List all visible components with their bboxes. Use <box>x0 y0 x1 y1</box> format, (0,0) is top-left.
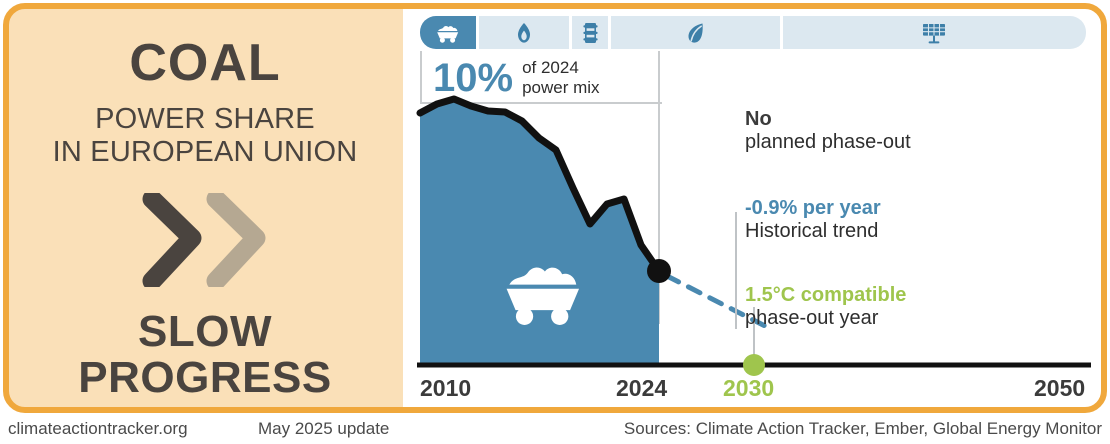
page-title: COAL <box>129 37 280 89</box>
annotation-compatible-phaseout: 1.5°C compatible phase-out year <box>745 284 906 330</box>
current-value-dot <box>647 259 671 283</box>
axis-tick-2024: 2024 <box>616 375 667 402</box>
chevron-right-light-icon <box>206 193 268 287</box>
chart-panel: 10% of 2024 power mix <box>403 7 1103 409</box>
axis-tick-2050: 2050 <box>1034 375 1085 402</box>
subtitle-line-2: IN EUROPEAN UNION <box>53 136 358 169</box>
infographic-root: COAL POWER SHARE IN EUROPEAN UNION SLOW … <box>0 0 1110 444</box>
verdict-line-2: PROGRESS <box>78 355 331 401</box>
progress-verdict: SLOW PROGRESS <box>78 309 331 401</box>
no-phaseout-headline: No <box>745 108 911 131</box>
page-subtitle: POWER SHARE IN EUROPEAN UNION <box>53 103 358 169</box>
footer-website[interactable]: climateactiontracker.org <box>8 419 188 439</box>
subtitle-line-1: POWER SHARE <box>53 103 358 136</box>
historical-trend-sub: Historical trend <box>745 220 881 243</box>
phaseout-year-dot <box>743 354 765 376</box>
summary-panel: COAL POWER SHARE IN EUROPEAN UNION SLOW … <box>7 7 403 409</box>
annotation-no-phaseout: No planned phase-out <box>745 108 911 154</box>
footer-update-date: May 2025 update <box>258 419 389 439</box>
historical-trend-headline: -0.9% per year <box>745 197 881 220</box>
annotation-historical-trend: -0.9% per year Historical trend <box>745 197 881 243</box>
progress-chevrons <box>142 193 268 287</box>
footer: climateactiontracker.org May 2025 update… <box>0 415 1110 444</box>
chevron-right-dark-icon <box>142 193 204 287</box>
axis-tick-2010: 2010 <box>420 375 471 402</box>
footer-sources: Sources: Climate Action Tracker, Ember, … <box>624 419 1102 439</box>
no-phaseout-sub: planned phase-out <box>745 131 911 154</box>
compatible-headline: 1.5°C compatible <box>745 284 906 307</box>
axis-tick-2030: 2030 <box>723 375 774 402</box>
compatible-sub: phase-out year <box>745 307 906 330</box>
verdict-line-1: SLOW <box>78 309 331 355</box>
